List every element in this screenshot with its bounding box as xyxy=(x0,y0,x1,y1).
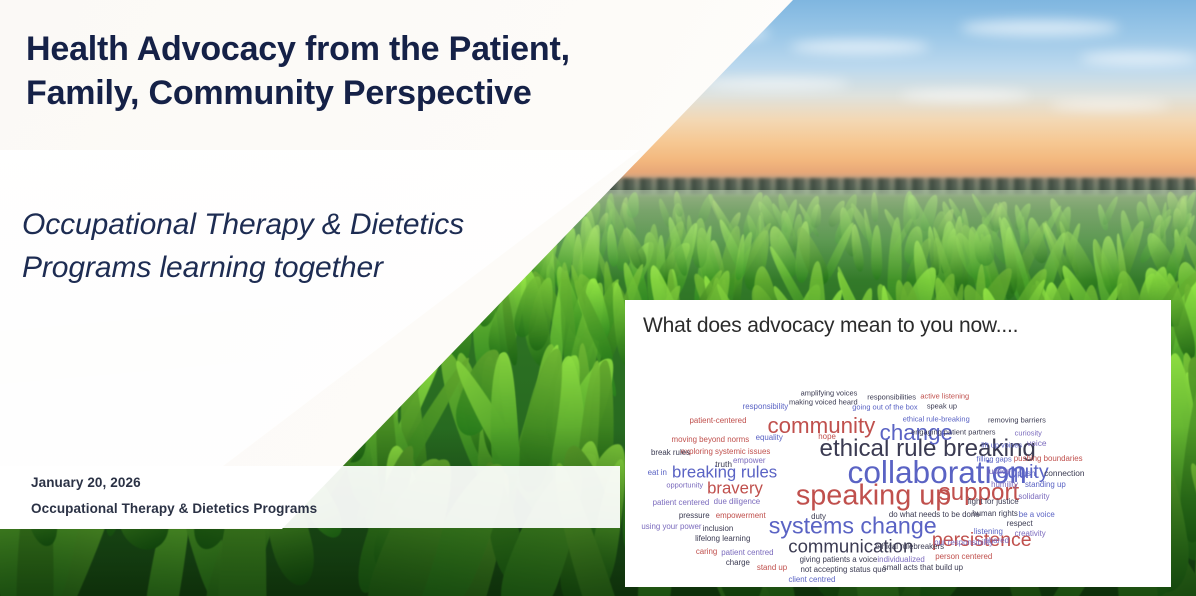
wordcloud-word: giving patients a voice xyxy=(800,556,878,564)
wordcloud-word: client centred xyxy=(788,576,835,584)
wordcloud-word: patient-centered xyxy=(689,417,746,425)
wordcloud-word: equality xyxy=(756,434,783,442)
wordcloud-word: break rules xyxy=(651,449,690,457)
wordcloud-word: opportunity xyxy=(666,481,703,488)
wordcloud-word: using your power xyxy=(641,523,701,531)
wordcloud-word: pressure xyxy=(679,512,710,520)
wordcloud-word: amplifying voices xyxy=(801,389,858,396)
wordcloud-word: duty xyxy=(811,513,826,521)
wordcloud-word: exploring systemic issues xyxy=(681,448,770,456)
wordcloud-card: What does advocacy mean to you now.... c… xyxy=(625,300,1171,587)
wordcloud-word: active listening xyxy=(920,392,969,399)
cloud xyxy=(900,90,1030,101)
wordcloud-word: our responsibility xyxy=(934,539,993,547)
wordcloud-word: humility xyxy=(991,481,1018,489)
wordcloud-word: empowerment xyxy=(716,512,766,520)
presentation-slide: Health Advocacy from the Patient, Family… xyxy=(0,0,1196,596)
cloud xyxy=(700,78,850,90)
wordcloud-word: responsibility xyxy=(743,403,789,411)
wordcloud-word: pushing boundaries xyxy=(1014,455,1083,463)
wordcloud-word: connection xyxy=(1044,469,1084,477)
wordcloud-word: hope xyxy=(818,433,836,441)
wordcloud-word: lifelong learning xyxy=(695,535,750,543)
wordcloud-word: charge xyxy=(726,559,750,567)
wordcloud-word: removing barriers xyxy=(988,416,1046,423)
wordcloud-word: caring xyxy=(696,548,718,556)
wordcloud-word: truth xyxy=(715,460,732,468)
wordcloud-word: bravery xyxy=(707,481,763,498)
wordcloud-word: fight for justice xyxy=(968,498,1019,506)
wordcloud-word: person centered xyxy=(935,553,992,561)
wordcloud-word: curiosity xyxy=(1015,429,1042,436)
slide-title: Health Advocacy from the Patient, Family… xyxy=(26,28,586,116)
slide-subtitle: Occupational Therapy & Dietetics Program… xyxy=(22,203,542,289)
wordcloud-word: patient centred xyxy=(721,550,773,558)
wordcloud-word: ethical rule-breaking xyxy=(903,415,970,422)
cloud xyxy=(960,20,1120,36)
wordcloud-word: patient centered xyxy=(653,499,710,507)
wordcloud-word: going out of the box xyxy=(852,403,917,410)
cloud xyxy=(1050,100,1170,110)
wordcloud-chart: collaborationethical rule breakingspeaki… xyxy=(625,300,1171,587)
wordcloud-word: creativity xyxy=(1015,530,1046,538)
wordcloud-word: listening xyxy=(974,528,1003,536)
slide-organization: Occupational Therapy & Dietetics Program… xyxy=(31,501,317,516)
wordcloud-word: inclusion xyxy=(703,525,734,533)
wordcloud-word: respect xyxy=(1007,520,1033,528)
wordcloud-word: voice xyxy=(1027,439,1047,447)
wordcloud-word: responsibilities xyxy=(867,394,916,401)
wordcloud-word: lift up voices xyxy=(981,441,1022,448)
wordcloud-word: be a voice xyxy=(1019,511,1055,519)
wordcloud-word: speaking up xyxy=(796,482,951,511)
cloud xyxy=(1080,52,1196,65)
wordcloud-word: not accepting status quo xyxy=(800,566,886,574)
wordcloud-word: do what needs to be done xyxy=(889,511,980,519)
wordcloud-word: push xyxy=(1017,469,1035,477)
wordcloud-word: standing up xyxy=(1025,481,1066,489)
wordcloud-word: making voiced heard xyxy=(789,399,858,406)
wordcloud-word: speak up xyxy=(927,402,957,409)
wordcloud-word: due diligence xyxy=(714,498,761,506)
slide-date: January 20, 2026 xyxy=(31,475,141,490)
wordcloud-word: stand up xyxy=(757,564,787,572)
wordcloud-word: moving beyond norms xyxy=(672,436,750,444)
wordcloud-word: eat in xyxy=(648,469,667,477)
wordcloud-word: small acts that build up xyxy=(883,564,963,572)
wordcloud-word: human rights xyxy=(972,510,1018,518)
wordcloud-word: empower xyxy=(733,457,765,465)
wordcloud-word: solidarity xyxy=(1018,493,1049,501)
wordcloud-word: justice xyxy=(987,467,1011,475)
wordcloud-word: filling gaps xyxy=(977,456,1012,463)
cloud xyxy=(790,40,930,54)
wordcloud-word: engaging patient partners xyxy=(911,428,995,435)
